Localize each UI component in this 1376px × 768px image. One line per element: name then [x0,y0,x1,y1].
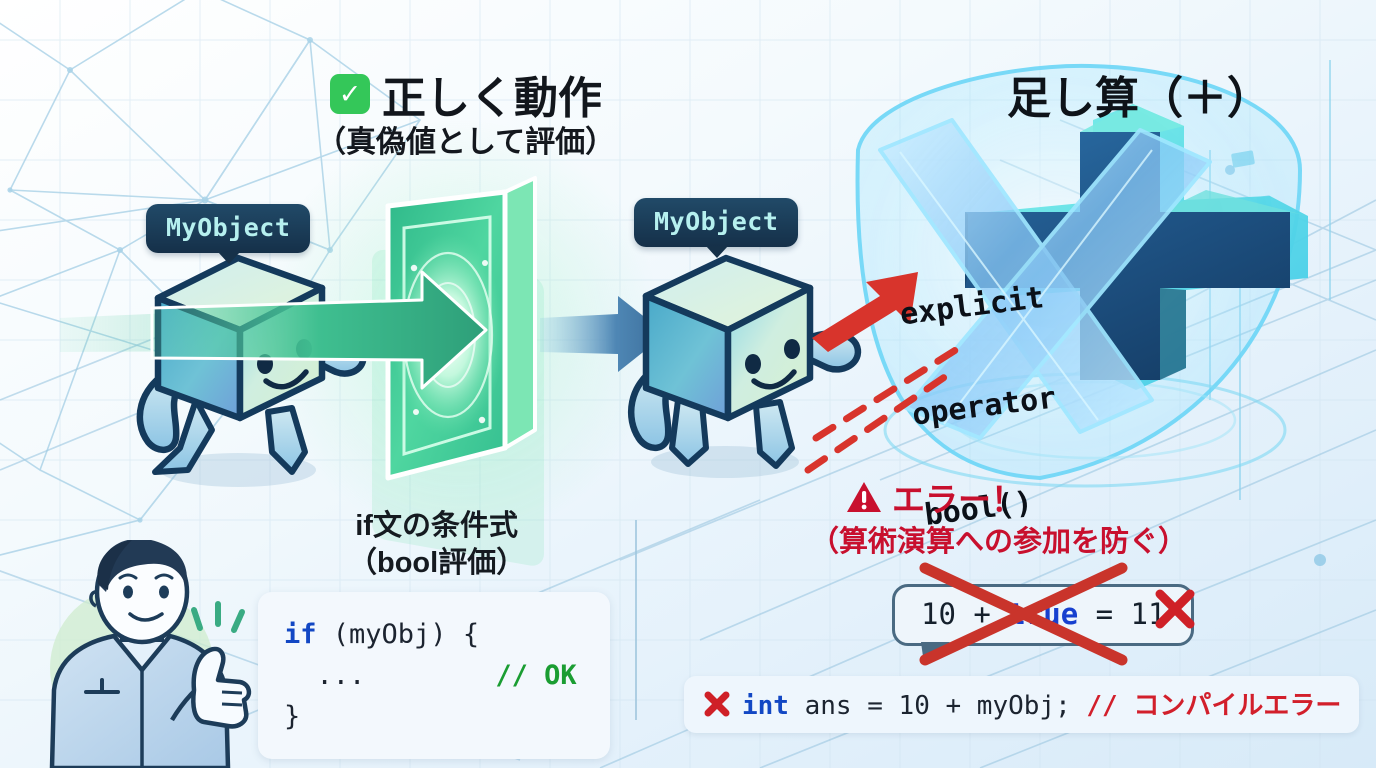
error-code-line: int ans = 10 + myObj; // コンパイルエラー [684,676,1359,733]
strike-through-x-icon [900,560,1150,670]
illustration-canvas: ✓ 正しく動作 （真偽値として評価） 足し算（＋） MyObject MyObj… [0,0,1376,768]
object-tag-right: MyObject [634,198,798,247]
code-line1-rest: (myObj) { [317,619,480,650]
red-x-icon [1152,586,1198,632]
section-divider [635,520,637,720]
code-keyword-if: if [284,619,317,650]
warning-triangle-icon [846,481,882,513]
code-line3: } [284,701,300,732]
sparkle-icon [194,604,242,630]
portal-caption: if文の条件式 （bool評価） [348,508,525,582]
error-subtitle: （算術演算への参加を防ぐ） [810,518,1187,560]
error-heading: エラー！ [846,473,1024,521]
ok-code-block: if (myObj) { ... // OK } [258,592,610,759]
portal-caption-line1: if文の条件式 [348,508,525,545]
code-ok-comment: // OK [495,660,576,691]
code-line2-body: ... [284,660,495,691]
thumbs-up-person [22,540,272,768]
check-badge-icon: ✓ [330,74,370,114]
portal-caption-line2: （bool評価） [348,545,525,582]
plus-heading: 足し算（＋） [1007,62,1271,126]
code-keyword-int: int [742,691,789,721]
error-code-body: ans = 10 + myObj; [789,691,1086,721]
error-title: エラー！ [892,473,1024,521]
compile-error-comment: // コンパイルエラー [1086,691,1341,721]
barrier-label-line1: explicit [898,281,1046,332]
barrier-label-line2: operator [910,381,1058,432]
object-tag-left: MyObject [146,204,310,253]
ok-subheading: （真偽値として評価） [316,117,615,161]
red-x-icon [702,689,732,719]
